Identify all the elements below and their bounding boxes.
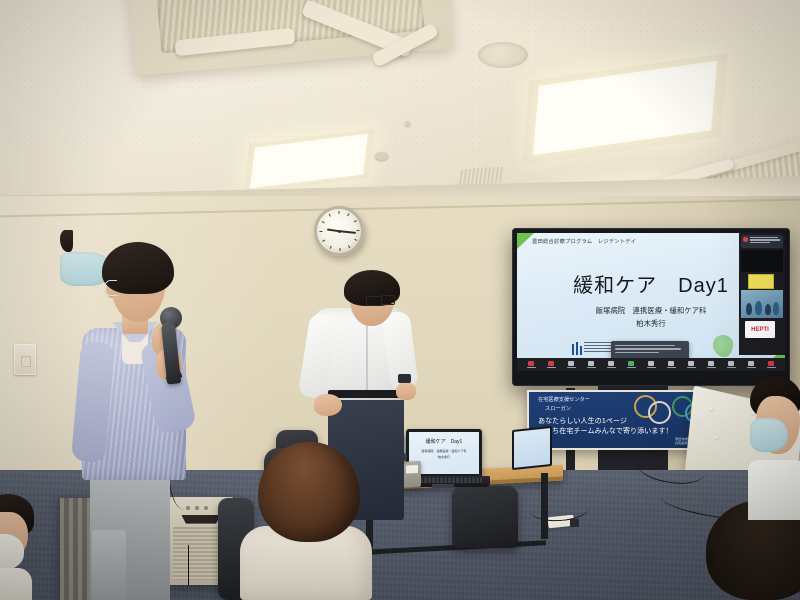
zoom-toolbar-leave[interactable] — [767, 361, 776, 369]
zoom-participant-panel[interactable]: HEPTI — [739, 233, 785, 355]
zoom-alert-banner[interactable] — [741, 235, 783, 248]
clock-body — [314, 206, 364, 256]
conference-room-photo: 豊田総合診療プログラム レジデントデイ 緩和ケア Day1 飯塚病院 連携医療・… — [0, 0, 800, 600]
logo-bars — [572, 342, 582, 355]
zoom-toolbar-mute[interactable] — [527, 361, 536, 369]
speaker-hair-sideburn — [60, 230, 73, 252]
light-switch[interactable] — [14, 344, 36, 375]
map-graphic — [713, 335, 733, 357]
zoom-toolbar-participants[interactable] — [587, 361, 596, 369]
alert-dot-icon — [743, 237, 748, 242]
ceiling-smoke-detector — [375, 152, 388, 160]
mask-ear-loop — [104, 280, 117, 296]
banner-org-name: 在宅医療支援センター — [538, 396, 590, 403]
zoom-toolbar-apps[interactable] — [707, 361, 716, 369]
switch-toggle[interactable] — [21, 356, 31, 367]
audience-hair — [258, 442, 360, 542]
zoom-toolbar-start-video[interactable] — [547, 361, 556, 369]
slide-header-text: 豊田総合診療プログラム レジデントデイ — [532, 237, 636, 245]
left-audience-shoulder — [0, 568, 32, 600]
third-laptop-screen — [514, 428, 550, 468]
zoom-tile-yellow-sign[interactable] — [748, 274, 774, 289]
zoom-tile-dark[interactable] — [741, 250, 783, 272]
clock-face — [321, 213, 357, 249]
third-laptop[interactable] — [512, 426, 552, 470]
banner-subtitle: スローガン — [545, 405, 571, 412]
table-leg — [541, 473, 548, 539]
facilitator-right-hand — [396, 382, 416, 400]
hospital-logo — [572, 342, 582, 355]
facilitator-left-hand — [314, 394, 342, 416]
banner-ring-silver — [648, 401, 671, 424]
presentation-television: 豊田総合診療プログラム レジデントデイ 緩和ケア Day1 飯塚病院 連携医療・… — [512, 228, 790, 386]
zoom-toolbar[interactable] — [517, 358, 785, 371]
banner-slogan-line2: とよち在宅チームみんなで寄り添います！ — [538, 426, 673, 436]
tv-screen: 豊田総合診療プログラム レジデントデイ 緩和ケア Day1 飯塚病院 連携医療・… — [517, 233, 785, 371]
zoom-toolbar-whiteboards[interactable] — [727, 361, 736, 369]
eyeglasses — [366, 296, 382, 306]
person-speaker-with-microphone — [60, 230, 235, 600]
ceiling-speaker — [478, 42, 528, 68]
power-plug — [570, 519, 579, 527]
logo-wordmark — [584, 342, 614, 354]
roll-up-banner: 在宅医療支援センター スローガン あなたらしい人生の1ページ とよち在宅チームみ… — [527, 390, 713, 450]
eyeglasses-lens-2 — [381, 295, 395, 305]
zoom-toolbar-record[interactable] — [647, 361, 656, 369]
person-audience-right-edge — [744, 376, 800, 516]
speaker-trouser-leg — [92, 530, 126, 600]
zoom-toolbar-security[interactable] — [567, 361, 576, 369]
zoom-toolbar-share-screen[interactable] — [627, 361, 636, 369]
zoom-toolbar-reactions[interactable] — [687, 361, 696, 369]
clock-center-cap — [338, 230, 341, 233]
zoom-tile-camera-feed[interactable] — [741, 290, 783, 318]
ceiling-sensor — [405, 121, 410, 126]
banner-slogan-line1: あなたらしい人生の1ページ — [538, 416, 627, 426]
backpack — [452, 486, 518, 548]
person-audience-foreground — [228, 440, 408, 600]
zoom-toolbar-chat[interactable] — [607, 361, 616, 369]
clock-minute-hand — [339, 230, 356, 234]
right-audience-shirt — [748, 460, 800, 520]
facilitator-watch — [398, 374, 411, 383]
facilitator-belt — [328, 390, 404, 398]
right-audience-mask — [750, 418, 788, 452]
zoom-toolbar-more[interactable] — [747, 361, 756, 369]
person-audience-left-edge — [0, 494, 52, 600]
wall-clock — [314, 206, 364, 256]
zoom-toolbar-breakout[interactable] — [667, 361, 676, 369]
zoom-tile-hepti-sign[interactable]: HEPTI — [745, 321, 775, 338]
